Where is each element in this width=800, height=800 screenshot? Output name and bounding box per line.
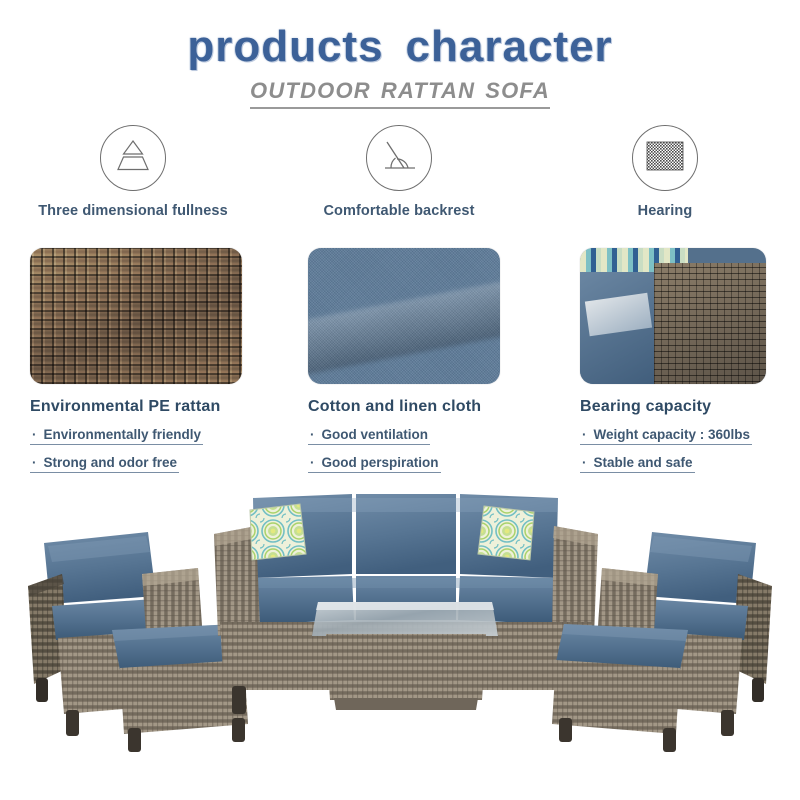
sofa-set-illustration xyxy=(0,478,800,800)
rattan-weave-closeup-photo xyxy=(30,248,242,384)
bullet-text: Stable and safe xyxy=(594,455,693,470)
left-ottoman-leg xyxy=(232,718,245,742)
bullet-dot-icon: · xyxy=(310,455,315,470)
feature-bullet-list: ·Environmentally friendly ·Strong and od… xyxy=(30,426,282,482)
cushion-fabric-texture xyxy=(308,248,500,384)
list-item: ·Environmentally friendly xyxy=(30,427,203,445)
right-armchair-leg xyxy=(752,678,764,702)
right-ottoman-leg xyxy=(663,728,676,752)
icon-feature-label: Hearing xyxy=(532,203,798,219)
icon-feature-label: Comfortable backrest xyxy=(266,203,532,219)
icon-circle-frame xyxy=(366,125,432,191)
icon-feature-row: Three dimensional fullness Comfortable b… xyxy=(0,125,800,235)
bullet-dot-icon: · xyxy=(310,427,315,442)
subtitle-word-2: RATTAN xyxy=(381,78,475,103)
right-ottoman-leg xyxy=(559,718,572,742)
page-title: productscharacter xyxy=(0,0,800,72)
product-infographic-page: productscharacter OUTDOORRATTANSOFA Thre… xyxy=(0,0,800,800)
feature-bullet-list: ·Good ventilation ·Good perspiration xyxy=(308,426,560,482)
bullet-text: Environmentally friendly xyxy=(44,427,202,442)
feature-title: Cotton and linen cloth xyxy=(308,398,560,416)
page-subtitle: OUTDOORRATTANSOFA xyxy=(250,78,550,109)
mesh-grid-icon xyxy=(642,136,688,181)
bullet-dot-icon: · xyxy=(32,455,37,470)
rattan-texture xyxy=(30,248,242,384)
icon-circle-frame xyxy=(632,125,698,191)
feature-title: Environmental PE rattan xyxy=(30,398,282,416)
feature-cotton-and-linen-cloth: Cotton and linen cloth ·Good ventilation… xyxy=(308,248,560,482)
icon-feature-label: Three dimensional fullness xyxy=(0,203,266,219)
angle-backrest-icon xyxy=(377,136,421,181)
list-item: ·Strong and odor free xyxy=(30,455,179,473)
rattan-armrest-region xyxy=(654,263,766,384)
sofa-leg xyxy=(232,686,246,714)
feature-bearing-capacity: Bearing capacity ·Weight capacity : 360l… xyxy=(580,248,785,482)
sofa-corner-texture xyxy=(580,248,766,384)
outdoor-rattan-sofa-set-photo xyxy=(0,478,800,800)
left-armchair-leg xyxy=(36,678,48,702)
pyramid-layers-icon xyxy=(111,136,155,181)
bullet-text: Weight capacity : 360lbs xyxy=(594,427,751,442)
icon-feature-three-dimensional-fullness: Three dimensional fullness xyxy=(0,125,266,219)
icon-feature-hearing: Hearing xyxy=(532,125,798,219)
bullet-text: Good perspiration xyxy=(322,455,439,470)
bullet-text: Good ventilation xyxy=(322,427,429,442)
subtitle-word-3: SOFA xyxy=(485,78,550,103)
subtitle-word-1: OUTDOOR xyxy=(250,78,371,103)
feature-environmental-pe-rattan: Environmental PE rattan ·Environmentally… xyxy=(30,248,282,482)
feature-bullet-list: ·Weight capacity : 360lbs ·Stable and sa… xyxy=(580,426,785,482)
blue-cushion-fabric-closeup-photo xyxy=(308,248,500,384)
bullet-dot-icon: · xyxy=(582,455,587,470)
sofa-corner-armrest-closeup-photo xyxy=(580,248,766,384)
bullet-dot-icon: · xyxy=(582,427,587,442)
bullet-dot-icon: · xyxy=(32,427,37,442)
feature-detail-row: Environmental PE rattan ·Environmentally… xyxy=(0,248,800,476)
list-item: ·Good ventilation xyxy=(308,427,430,445)
bullet-text: Strong and odor free xyxy=(44,455,178,470)
coffee-table-body xyxy=(326,634,486,700)
right-armchair-leg xyxy=(721,710,734,736)
coffee-table-base-rail xyxy=(334,698,478,710)
icon-feature-comfortable-backrest: Comfortable backrest xyxy=(266,125,532,219)
header: productscharacter OUTDOORRATTANSOFA xyxy=(0,0,800,112)
left-armchair-leg xyxy=(66,710,79,736)
list-item: ·Weight capacity : 360lbs xyxy=(580,427,752,445)
icon-circle-frame xyxy=(100,125,166,191)
list-item: ·Stable and safe xyxy=(580,455,695,473)
page-title-word-2: character xyxy=(406,22,613,71)
left-ottoman-leg xyxy=(128,728,141,752)
feature-title: Bearing capacity xyxy=(580,398,785,416)
list-item: ·Good perspiration xyxy=(308,455,441,473)
glass-top-coffee-table xyxy=(312,602,498,710)
page-title-word-1: products xyxy=(187,22,383,71)
